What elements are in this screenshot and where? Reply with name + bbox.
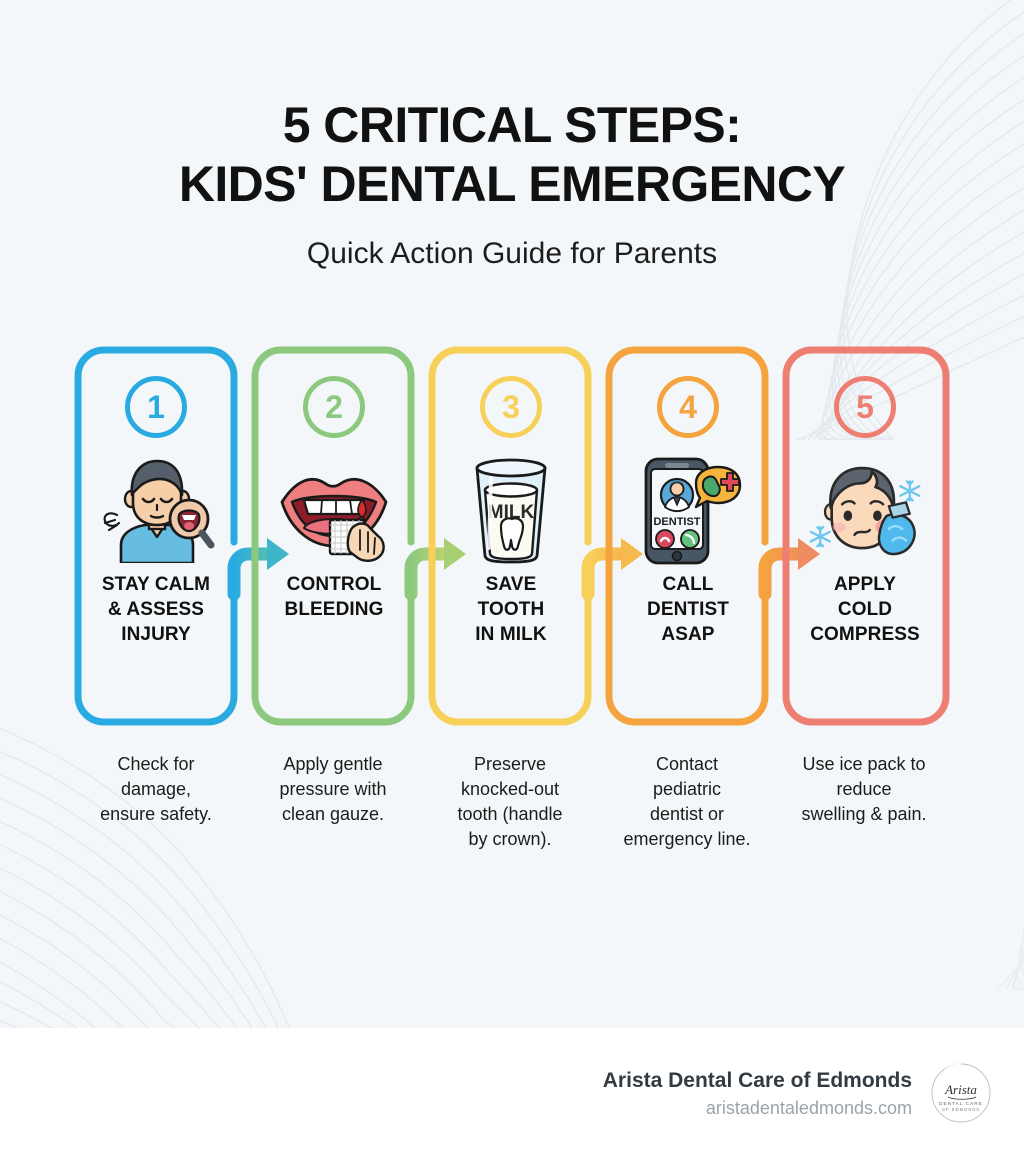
step-caption-2: Apply gentle pressure with clean gauze.: [251, 752, 415, 852]
step-caption-4: Contact pediatric dentist or emergency l…: [605, 752, 769, 852]
step-number-badge-5: 5: [834, 376, 896, 438]
step-captions-row: Check for damage, ensure safety. Apply g…: [74, 752, 950, 852]
step-number-badge-4: 4: [657, 376, 719, 438]
step-card-1[interactable]: 1: [74, 346, 238, 726]
step-caption-5: Use ice pack to reduce swelling & pain.: [782, 752, 946, 852]
page-title-line-1: 5 CRITICAL STEPS:: [0, 96, 1024, 155]
step-label-2: CONTROL BLEEDING: [285, 572, 384, 622]
step-label-3: SAVE TOOTH IN MILK: [475, 572, 546, 647]
child-with-ice-pack-icon: [805, 454, 925, 566]
logo-script-text: Arista: [944, 1082, 977, 1097]
infographic-page: 5 CRITICAL STEPS: KIDS' DENTAL EMERGENCY…: [0, 0, 1024, 1154]
dentist-caller-label: DENTIST: [653, 516, 700, 528]
arista-logo-badge: Arista DENTAL CARE OF EDMONDS: [926, 1058, 996, 1128]
bleeding-lips-with-gauze-icon: [274, 454, 394, 566]
step-number-badge-2: 2: [303, 376, 365, 438]
phone-calling-dentist-icon: DENTIST: [628, 454, 748, 566]
footer-bar: Arista Dental Care of Edmonds aristadent…: [0, 1028, 1024, 1154]
step-caption-1: Check for damage, ensure safety.: [74, 752, 238, 852]
logo-tagline-line-1: DENTAL CARE: [939, 1101, 983, 1106]
step-caption-3: Preserve knocked-out tooth (handle by cr…: [428, 752, 592, 852]
step-card-5[interactable]: 5: [783, 346, 947, 726]
step-label-5: APPLY COLD COMPRESS: [810, 572, 920, 647]
step-card-3[interactable]: 3 MILK: [429, 346, 593, 726]
step-label-1: STAY CALM & ASSESS INJURY: [102, 572, 210, 647]
milk-glass-with-tooth-icon: MILK: [451, 454, 571, 566]
step-card-2[interactable]: 2: [252, 346, 416, 726]
page-title: 5 CRITICAL STEPS: KIDS' DENTAL EMERGENCY: [0, 96, 1024, 214]
step-number-badge-3: 3: [480, 376, 542, 438]
page-header: 5 CRITICAL STEPS: KIDS' DENTAL EMERGENCY…: [0, 96, 1024, 272]
snowflake-icon: [900, 481, 919, 500]
page-subtitle: Quick Action Guide for Parents: [0, 236, 1024, 272]
calm-child-with-magnifier-icon: [96, 454, 216, 566]
footer-brand-block: Arista Dental Care of Edmonds aristadent…: [603, 1068, 912, 1119]
snowflake-icon: [811, 527, 830, 546]
brand-url[interactable]: aristadentaledmonds.com: [603, 1097, 912, 1119]
step-card-4[interactable]: 4 DENTIST: [606, 346, 770, 726]
page-title-line-2: KIDS' DENTAL EMERGENCY: [0, 155, 1024, 214]
logo-tagline-line-2: OF EDMONDS: [942, 1107, 980, 1112]
brand-name: Arista Dental Care of Edmonds: [603, 1068, 912, 1094]
step-number-badge-1: 1: [125, 376, 187, 438]
step-label-4: CALL DENTIST ASAP: [647, 572, 729, 647]
steps-row: 1: [74, 346, 950, 726]
background-arcs-bottom-left: [0, 664, 350, 1084]
